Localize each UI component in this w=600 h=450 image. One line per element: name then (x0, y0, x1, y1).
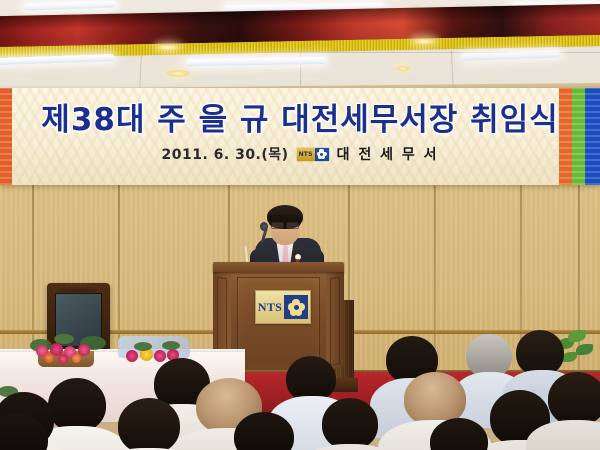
nts-flower-icon (315, 148, 329, 161)
ceremony-photo-scene: 제38대 주 을 규 대전세무서장 취임식 2011. 6. 30.(목) NT… (0, 0, 600, 450)
ceiling-downlight (156, 44, 180, 51)
head (548, 372, 600, 426)
flower-emblem (288, 299, 305, 316)
ceiling-downlight (396, 66, 410, 71)
monitor-crest (61, 283, 96, 292)
podium-nts-plaque: NTS (255, 290, 311, 324)
head (118, 398, 180, 450)
ceiling (0, 0, 600, 96)
plaque-nts-text: NTS (258, 300, 282, 315)
flower-basket-left (24, 333, 110, 367)
microphone-head (260, 222, 268, 231)
ceiling-light-tube (24, 0, 116, 10)
speaker-glasses (271, 222, 299, 227)
flower-emblem (317, 149, 327, 159)
nts-logo-banner: NTS (297, 148, 329, 161)
ceremony-banner: 제38대 주 을 규 대전세무서장 취임식 2011. 6. 30.(목) NT… (0, 88, 600, 185)
nts-logo-text: NTS (297, 148, 315, 161)
banner-date: 2011. 6. 30.(목) (161, 144, 288, 164)
ceiling-downlight (166, 70, 190, 77)
plaque-flower-icon (284, 295, 308, 319)
banner-subtitle-row: 2011. 6. 30.(목) NTS 대 전 세 무 서 (0, 144, 600, 164)
banner-title: 제38대 주 을 규 대전세무서장 취임식 (0, 94, 600, 139)
ceiling-downlight (412, 38, 436, 45)
podium-top (213, 262, 344, 272)
ceiling-light-tube (186, 57, 326, 66)
head (322, 398, 378, 450)
head (48, 378, 106, 432)
podium-right-wing (326, 268, 344, 370)
banner-organization: 대 전 세 무 서 (337, 144, 439, 164)
